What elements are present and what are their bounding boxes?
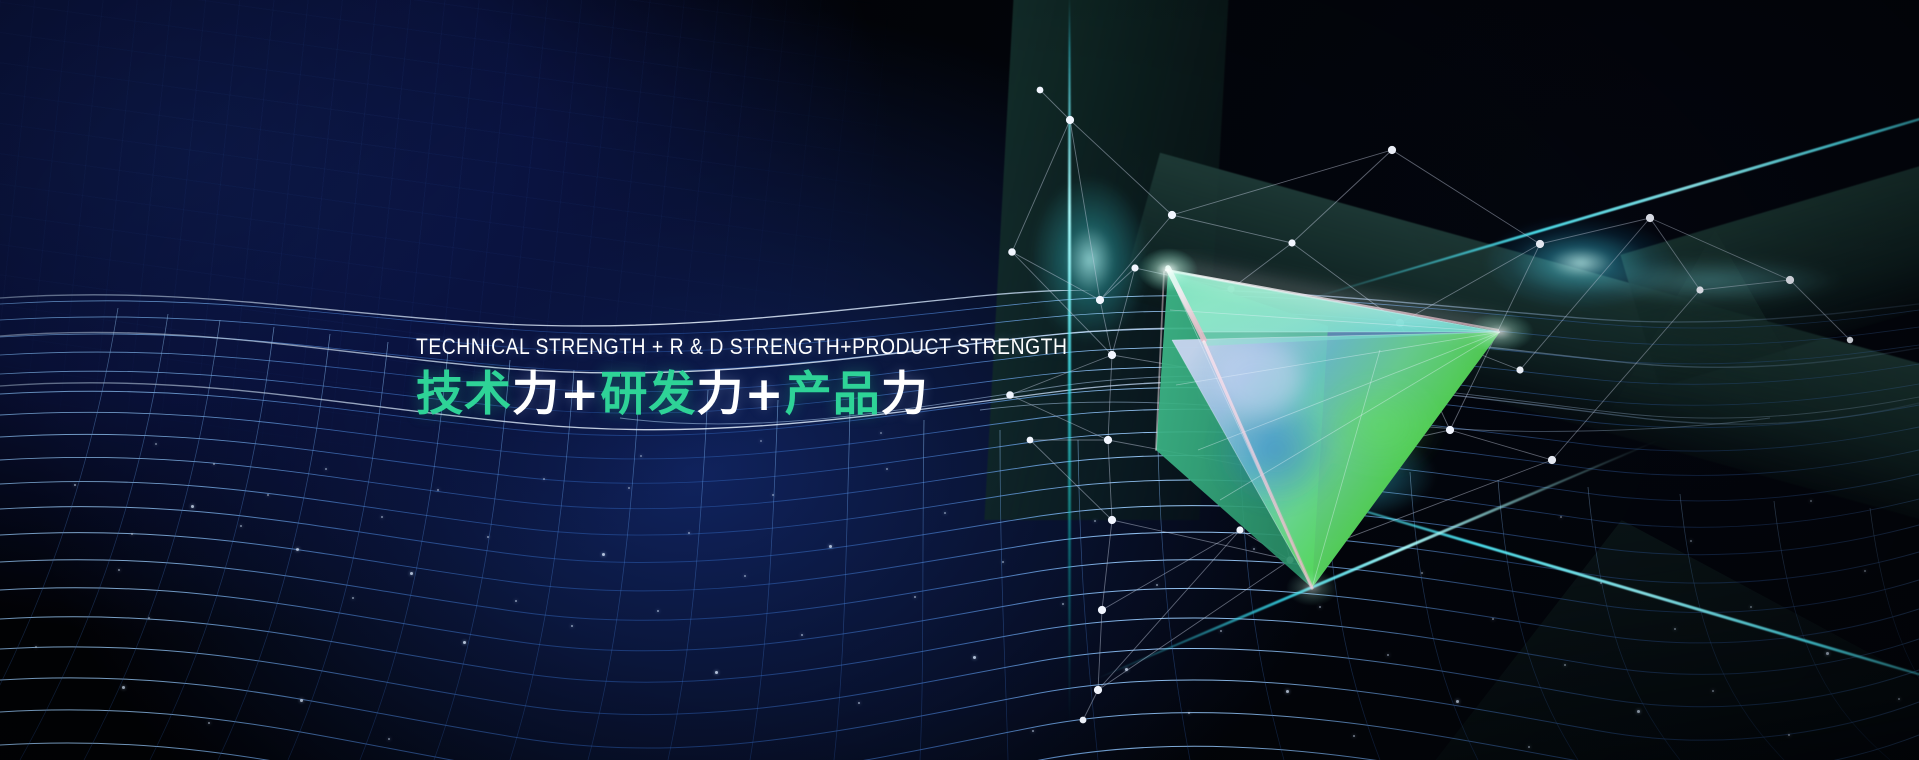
headline-segment-li-3: 力 (881, 367, 929, 422)
headline-segment-plus-2: + (744, 367, 784, 422)
hero-banner: TECHNICAL STRENGTH + R & D STRENGTH+PROD… (0, 0, 1919, 760)
headline-segment-jishu: 技术 (416, 367, 512, 422)
headline-english: TECHNICAL STRENGTH + R & D STRENGTH+PROD… (416, 336, 1067, 359)
headline-segment-plus-1: + (560, 367, 600, 422)
headline-segment-li-2: 力 (696, 367, 744, 422)
headline-segment-chanpin: 产品 (785, 367, 881, 422)
headline-block: TECHNICAL STRENGTH + R & D STRENGTH+PROD… (416, 336, 1174, 419)
headline-segment-li-1: 力 (512, 367, 560, 422)
headline-chinese: 技术力+研发力+产品力 (416, 370, 1174, 420)
headline-segment-yanfa: 研发 (600, 367, 696, 422)
